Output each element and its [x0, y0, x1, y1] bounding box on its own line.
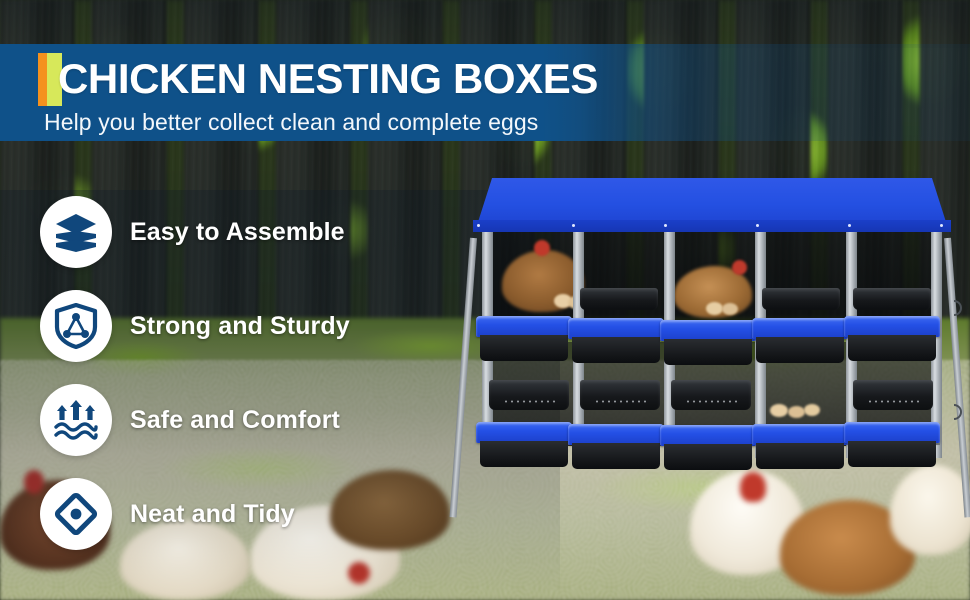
tray-body: [664, 444, 752, 470]
tray-body: [848, 441, 936, 467]
roof-rivet: [848, 224, 851, 227]
tray-lid[interactable]: [476, 422, 572, 443]
nest-basin: [580, 380, 660, 410]
roof-rivet: [572, 224, 575, 227]
nest-basin: [853, 380, 933, 410]
tray-body: [756, 443, 844, 469]
accent-stripe-orange: [38, 53, 47, 106]
tray-body: [572, 337, 660, 363]
egg: [722, 303, 738, 315]
egg: [804, 404, 820, 416]
egg: [770, 404, 788, 417]
hen-comb-box-2: [732, 260, 747, 275]
tray-lid[interactable]: [752, 318, 848, 339]
page-title: CHICKEN NESTING BOXES: [58, 50, 598, 108]
side-hook: [954, 300, 962, 316]
tray-body: [572, 443, 660, 469]
egg: [706, 302, 723, 315]
header-banner: CHICKEN NESTING BOXES Help you better co…: [0, 44, 970, 141]
roof-rivet: [756, 224, 759, 227]
basin-vent-holes: [867, 399, 918, 405]
roof-rivet: [664, 224, 667, 227]
hen-comb-box-1: [534, 240, 550, 256]
nest-basin: [489, 380, 569, 410]
egg-tray[interactable]: [752, 318, 848, 364]
feature-item-easy-to-assemble: Easy to Assemble: [40, 196, 460, 268]
feature-label: Easy to Assemble: [130, 218, 345, 247]
tray-lid[interactable]: [476, 316, 572, 337]
egg-tray[interactable]: [568, 318, 664, 364]
feature-label: Safe and Comfort: [130, 406, 340, 435]
roof-rivet: [477, 224, 480, 227]
top-dark-overlay: [0, 0, 970, 48]
feature-list: Easy to Assemble Strong and Sturdy: [40, 196, 460, 550]
feature-item-neat-and-tidy: Neat and Tidy: [40, 478, 460, 550]
egg-tray[interactable]: [752, 424, 848, 472]
egg-tray[interactable]: [844, 422, 940, 470]
feature-label: Neat and Tidy: [130, 500, 295, 529]
egg-tray[interactable]: [660, 320, 756, 366]
diamond-dot-icon: [53, 491, 99, 537]
nest-basin: [671, 380, 751, 410]
egg-tray[interactable]: [476, 422, 572, 470]
feature-label: Strong and Sturdy: [130, 312, 350, 341]
tray-lid[interactable]: [844, 316, 940, 337]
feature-icon-badge: [40, 384, 112, 456]
basin-vent-holes: [685, 399, 736, 405]
nest-basin: [580, 288, 658, 310]
airflow-waves-icon: [53, 399, 99, 441]
basin-vent-holes: [503, 399, 554, 405]
tray-body: [480, 335, 568, 361]
tray-body: [480, 441, 568, 467]
nest-basin: [762, 288, 840, 310]
tray-body: [848, 335, 936, 361]
tray-lid[interactable]: [568, 424, 664, 445]
tray-lid[interactable]: [660, 320, 756, 341]
egg-tray[interactable]: [844, 316, 940, 362]
feature-icon-badge: [40, 290, 112, 362]
layers-icon: [54, 212, 98, 252]
tray-body: [664, 339, 752, 365]
tray-lid[interactable]: [752, 424, 848, 445]
tray-lid[interactable]: [844, 422, 940, 443]
feature-item-safe-and-comfort: Safe and Comfort: [40, 384, 460, 456]
roof-rivet: [940, 224, 943, 227]
nest-basin: [853, 288, 931, 310]
egg-tray[interactable]: [568, 424, 664, 472]
page-subtitle: Help you better collect clean and comple…: [44, 106, 538, 138]
tray-lid[interactable]: [568, 318, 664, 339]
product-leg-right: [944, 238, 970, 518]
promo-banner-image: CHICKEN NESTING BOXES Help you better co…: [0, 0, 970, 600]
tray-body: [756, 337, 844, 363]
egg-tray[interactable]: [476, 316, 572, 362]
product-roof-front-edge: [473, 220, 951, 232]
egg: [788, 406, 805, 418]
feature-icon-badge: [40, 196, 112, 268]
tray-lid[interactable]: [660, 425, 756, 446]
product-roof-top: [478, 178, 946, 222]
shield-icon: [54, 303, 98, 349]
egg-tray[interactable]: [660, 425, 756, 473]
feature-icon-badge: [40, 478, 112, 550]
product-nesting-box-unit: [468, 178, 970, 518]
basin-vent-holes: [594, 399, 645, 405]
feature-item-strong-and-sturdy: Strong and Sturdy: [40, 290, 460, 362]
